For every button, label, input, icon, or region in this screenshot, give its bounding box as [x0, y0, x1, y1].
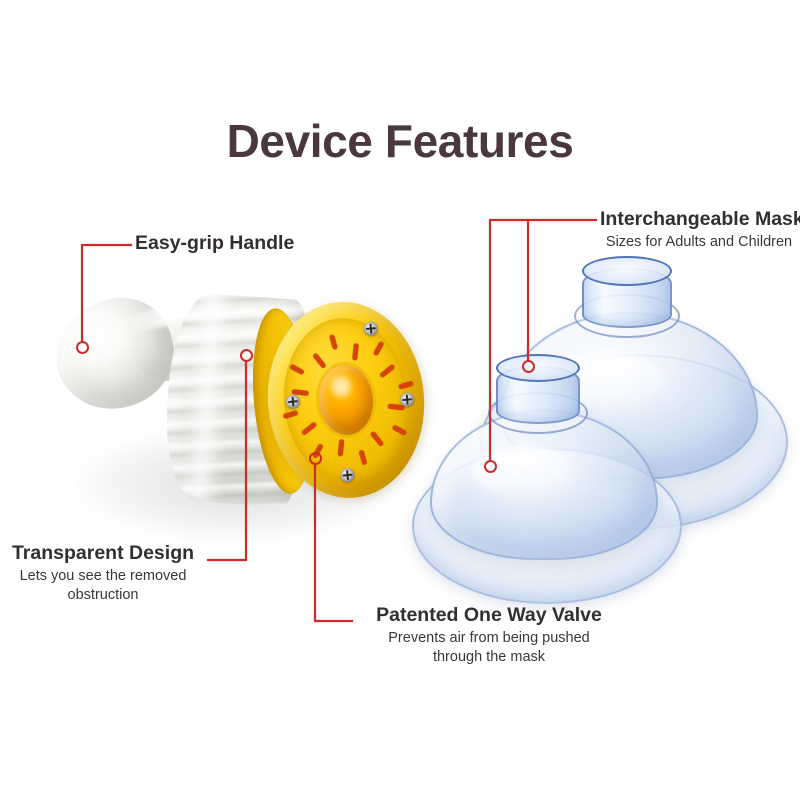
valve-slot: [370, 431, 384, 447]
valve-slot: [313, 353, 327, 369]
callout-heading-transparent-design: Transparent Design: [0, 542, 206, 565]
callout-heading-easy-grip-handle: Easy-grip Handle: [135, 232, 294, 255]
callout-subtitle-transparent-design-line2: obstruction: [0, 586, 206, 605]
valve-center-boss: [316, 363, 376, 437]
mask-large-port-opening: [582, 256, 672, 286]
valve-slot: [290, 364, 305, 375]
callout-transparent-design: Transparent Design Lets you see the remo…: [0, 542, 206, 605]
callout-marker-patented-one-way-valve: [309, 452, 322, 465]
feature-diagram: Device Features Easy-grip Handle Interch…: [0, 0, 800, 800]
mask-small-port-opening: [496, 354, 580, 382]
callout-marker-interchangeable-mask: [522, 360, 535, 373]
callout-heading-one-way-valve: Patented One Way Valve: [355, 604, 623, 627]
valve-slot: [283, 410, 299, 419]
valve-slot: [329, 334, 338, 350]
valve-slot: [353, 343, 359, 360]
callout-marker-easy-grip-handle: [76, 341, 89, 354]
callout-marker-interchangeable-mask: [484, 460, 497, 473]
callout-easy-grip-handle: Easy-grip Handle: [135, 232, 294, 255]
callout-marker-transparent-design: [240, 349, 253, 362]
valve-slot: [358, 450, 367, 466]
page-title: Device Features: [0, 118, 800, 164]
callout-subtitle-transparent-design-line1: Lets you see the removed: [0, 567, 206, 586]
callout-one-way-valve: Patented One Way Valve Prevents air from…: [355, 604, 623, 667]
valve-slot: [338, 439, 344, 456]
callout-interchangeable-mask: Interchangeable Mask Sizes for Adults an…: [600, 208, 800, 252]
callout-subtitle-interchangeable-mask: Sizes for Adults and Children: [600, 233, 798, 252]
mask-small: [402, 372, 702, 612]
valve-slot: [379, 364, 395, 378]
valve-slot: [373, 341, 384, 356]
callout-heading-interchangeable-mask: Interchangeable Mask: [600, 208, 800, 231]
valve-slot: [301, 421, 317, 435]
callout-subtitle-one-way-valve-line1: Prevents air from being pushed: [355, 629, 623, 648]
callout-subtitle-one-way-valve-line2: through the mask: [355, 648, 623, 667]
